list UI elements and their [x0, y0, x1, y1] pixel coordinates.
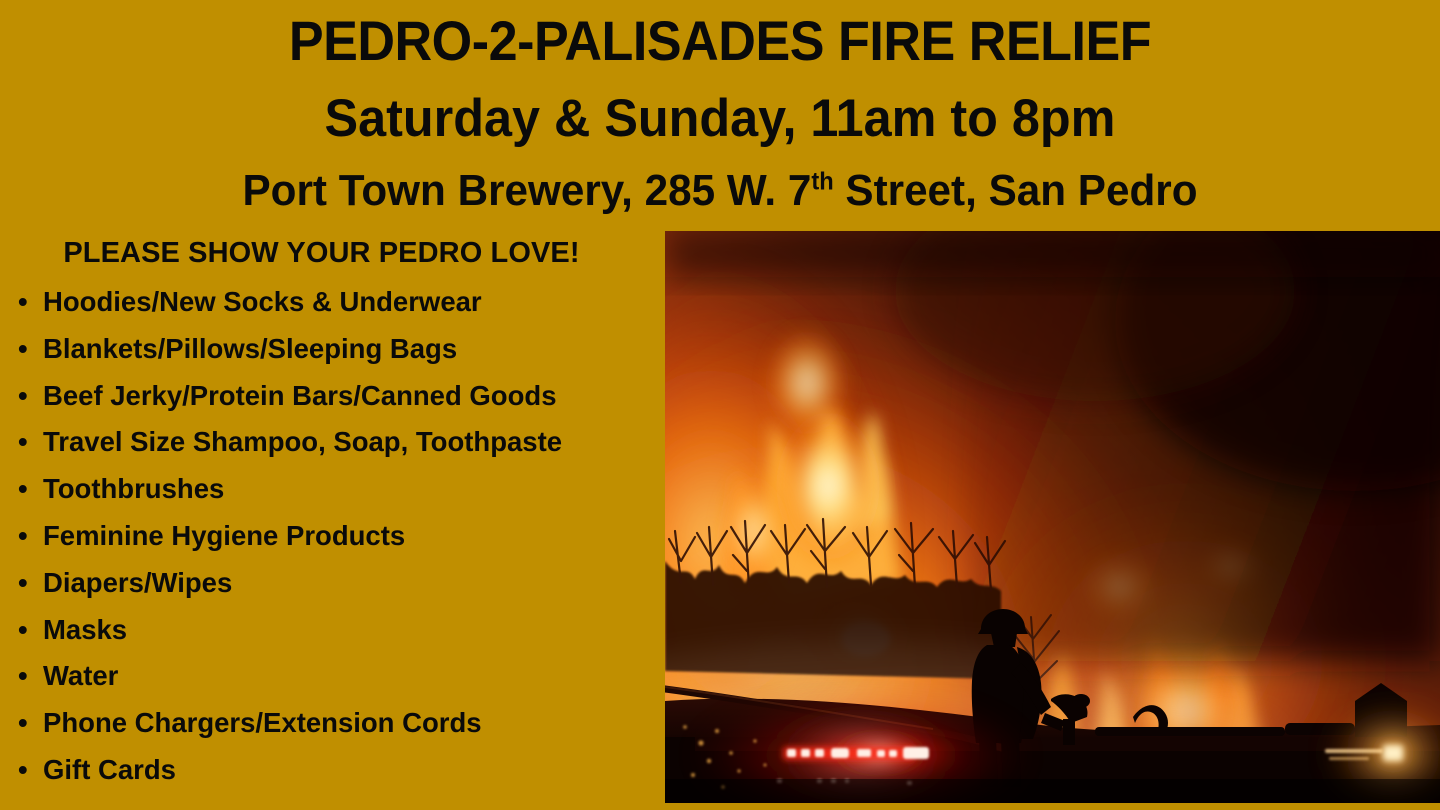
donation-item: •Beef Jerky/Protein Bars/Canned Goods — [18, 373, 665, 420]
donation-item-label: Diapers/Wipes — [43, 567, 232, 598]
donation-item: •Hoodies/New Socks & Underwear — [18, 279, 665, 326]
bottom-darkening — [665, 779, 1440, 803]
donation-items-list: •Hoodies/New Socks & Underwear•Blankets/… — [0, 279, 665, 794]
bullet-icon: • — [18, 607, 28, 654]
donation-item-label: Hoodies/New Socks & Underwear — [43, 286, 482, 317]
venue-prefix: Port Town Brewery, 285 W. 7 — [242, 166, 811, 215]
bullet-icon: • — [18, 560, 28, 607]
donation-item: •Feminine Hygiene Products — [18, 513, 665, 560]
wildfire-photo — [665, 231, 1440, 803]
amber-light-streak — [1325, 749, 1383, 753]
flame-core-top — [763, 325, 851, 441]
bullet-icon: • — [18, 747, 28, 794]
bullet-icon: • — [18, 653, 28, 700]
donation-item-label: Beef Jerky/Protein Bars/Canned Goods — [43, 380, 557, 411]
donation-item-label: Blankets/Pillows/Sleeping Bags — [43, 333, 457, 364]
donation-item: •Diapers/Wipes — [18, 560, 665, 607]
call-to-action-heading: PLEASE SHOW YOUR PEDRO LOVE! — [0, 231, 665, 270]
bullet-icon: • — [18, 700, 28, 747]
bullet-icon: • — [18, 279, 28, 326]
donation-item-label: Feminine Hygiene Products — [43, 520, 405, 551]
bullet-icon: • — [18, 373, 28, 420]
donation-item-label: Water — [43, 660, 118, 691]
left-bottom-gold-strip — [0, 803, 665, 810]
bullet-icon: • — [18, 466, 28, 513]
photo-bottom-gold-strip — [665, 803, 1440, 810]
bullet-icon: • — [18, 419, 28, 466]
donation-item: •Phone Chargers/Extension Cords — [18, 700, 665, 747]
donation-item: •Masks — [18, 607, 665, 654]
event-date-time: Saturday & Sunday, 11am to 8pm — [36, 69, 1404, 145]
donation-item: •Travel Size Shampoo, Soap, Toothpaste — [18, 419, 665, 466]
street-ordinal-suffix: th — [811, 168, 833, 195]
venue-suffix: Street, San Pedro — [834, 166, 1198, 215]
amber-light-streak-2 — [1329, 757, 1369, 760]
bullet-icon: • — [18, 513, 28, 560]
donation-item-label: Phone Chargers/Extension Cords — [43, 707, 482, 738]
donation-item-label: Toothbrushes — [43, 473, 224, 504]
flyer-canvas: PEDRO-2-PALISADES FIRE RELIEF Saturday &… — [0, 0, 1440, 810]
flyer-header: PEDRO-2-PALISADES FIRE RELIEF Saturday &… — [0, 0, 1440, 231]
amber-lamp-body — [1383, 745, 1403, 761]
donation-needs-panel: PLEASE SHOW YOUR PEDRO LOVE! •Hoodies/Ne… — [0, 231, 665, 810]
donation-item: •Toothbrushes — [18, 466, 665, 513]
donation-item-label: Gift Cards — [43, 754, 176, 785]
donation-item-label: Masks — [43, 614, 127, 645]
donation-item: •Water — [18, 653, 665, 700]
event-title: PEDRO-2-PALISADES FIRE RELIEF — [50, 0, 1389, 69]
donation-item: •Blankets/Pillows/Sleeping Bags — [18, 326, 665, 373]
bullet-icon: • — [18, 326, 28, 373]
wildfire-scene-illustration — [665, 231, 1440, 803]
top-darkening — [665, 231, 1440, 277]
donation-item-label: Travel Size Shampoo, Soap, Toothpaste — [43, 426, 562, 457]
event-venue-address: Port Town Brewery, 285 W. 7th Street, Sa… — [29, 145, 1411, 213]
donation-item: •Gift Cards — [18, 747, 665, 794]
